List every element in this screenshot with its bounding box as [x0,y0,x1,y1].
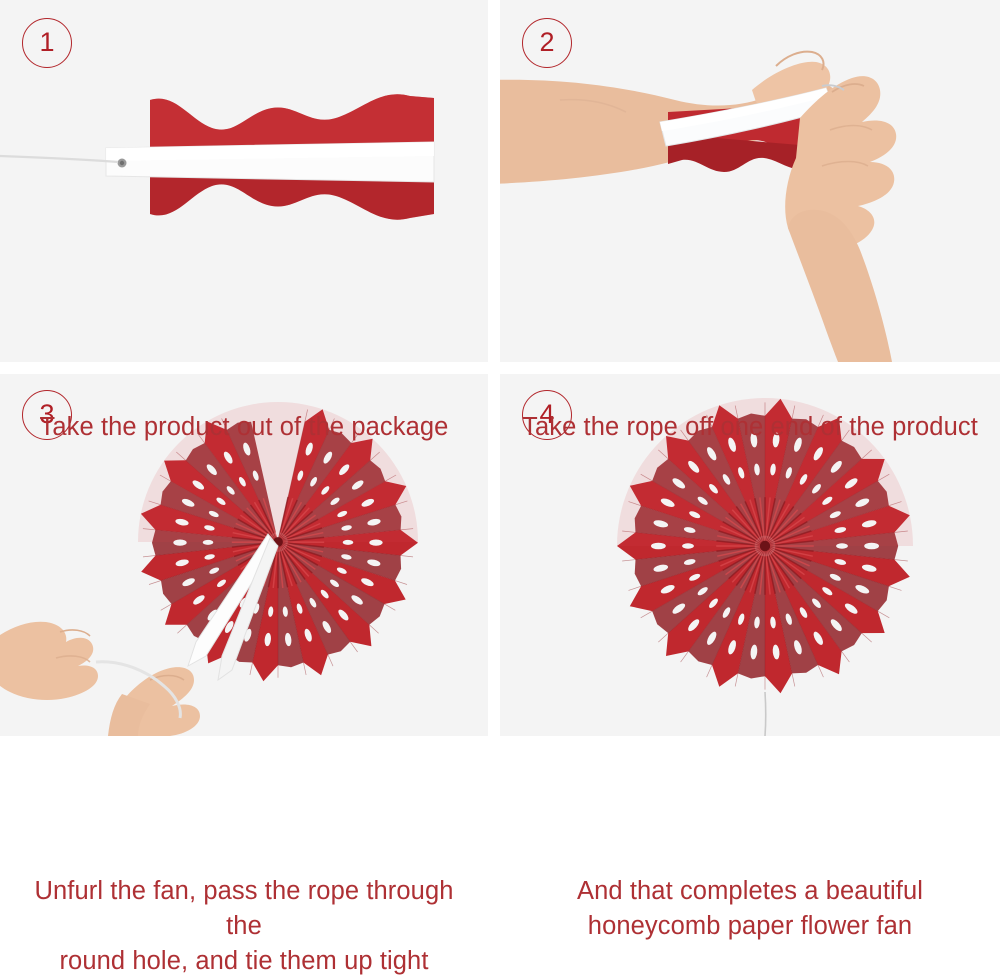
step-1-badge: 1 [22,18,72,68]
caption-step-2: Take the rope off one end of the product [500,362,1000,494]
caption-row-bottom: Unfurl the fan, pass the rope through th… [0,856,1000,956]
photo-step-1-product-in-package: 1 [0,0,488,362]
caption-row-top: Take the product out of the package Take… [0,362,1000,494]
caption-step-1: Take the product out of the package [0,362,488,494]
caption-step-3: Unfurl the fan, pass the rope through th… [0,856,488,980]
caption-step-2-line-1: Take the rope off one end of the product [522,410,978,445]
caption-step-4: And that completes a beautiful honeycomb… [500,856,1000,980]
step-1-illustration [0,0,488,362]
caption-step-1-line-1: Take the product out of the package [40,410,449,445]
caption-step-4-line-1: And that completes a beautiful [577,874,923,909]
caption-step-4-line-2: honeycomb paper flower fan [577,909,923,944]
instruction-sheet: 1 [0,0,1000,956]
caption-step-3-line-2: round hole, and tie them up tight [14,944,474,979]
step-2-badge: 2 [522,18,572,68]
white-card-strip [106,142,434,182]
hanging-thread [765,692,766,736]
photo-step-2-removing-rope: 2 [500,0,1000,362]
step-2-illustration [500,0,1000,362]
caption-step-3-line-1: Unfurl the fan, pass the rope through th… [14,874,474,944]
